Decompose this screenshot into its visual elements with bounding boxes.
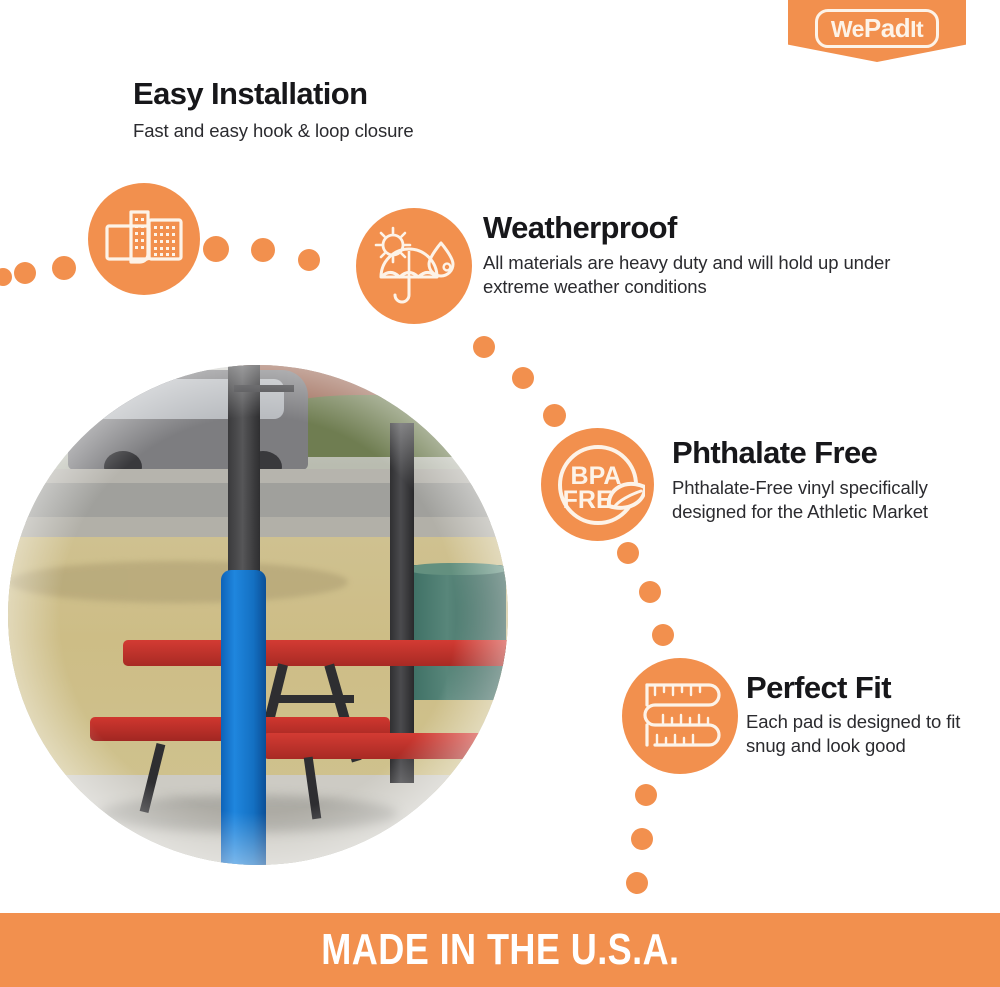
measuring-tape-icon xyxy=(622,658,738,774)
measuring-tape-glyph xyxy=(637,673,723,759)
feature-title: Weatherproof xyxy=(483,212,913,245)
hook-and-loop-glyph xyxy=(105,208,183,270)
trail-dot xyxy=(626,872,648,894)
feature-description: Each pad is designed to fit snug and loo… xyxy=(746,710,986,759)
feature-block-perfect-fit: Perfect Fit Each pad is designed to fit … xyxy=(746,672,986,758)
brand-logo-we: We xyxy=(831,18,864,41)
feature-block-weatherproof: Weatherproof All materials are heavy dut… xyxy=(483,212,913,299)
feature-title: Perfect Fit xyxy=(746,672,986,705)
feature-block-phthalate-free: Phthalate Free Phthalate-Free vinyl spec… xyxy=(672,437,972,524)
weather-glyph xyxy=(371,225,457,307)
trail-dot xyxy=(52,256,76,280)
hook-and-loop-icon xyxy=(88,183,200,295)
feature-title: Easy Installation xyxy=(133,78,553,111)
feature-title: Phthalate Free xyxy=(672,437,972,470)
made-in-usa-banner: MADE IN THE U.S.A. xyxy=(0,913,1000,987)
brand-logo-pad: Pad xyxy=(864,15,910,41)
brand-logo-box: We Pad It xyxy=(815,9,939,48)
feature-description: All materials are heavy duty and will ho… xyxy=(483,251,913,300)
bpa-free-glyph: BPA FREE xyxy=(551,438,645,532)
feature-description: Fast and easy hook & loop closure xyxy=(133,119,553,143)
trail-dot xyxy=(639,581,661,603)
trail-dot xyxy=(635,784,657,806)
feature-description: Phthalate-Free vinyl specifically design… xyxy=(672,476,972,525)
trail-dot xyxy=(251,238,275,262)
trail-dot xyxy=(203,236,229,262)
infographic-page: We Pad It xyxy=(0,0,1000,987)
trail-dot xyxy=(0,268,12,286)
brand-logo-banner: We Pad It xyxy=(788,0,966,62)
made-in-usa-text: MADE IN THE U.S.A. xyxy=(321,925,679,975)
feature-block-easy-installation: Easy Installation Fast and easy hook & l… xyxy=(133,78,553,143)
brand-logo-it: It xyxy=(910,18,923,41)
product-photo xyxy=(8,365,508,865)
bpa-free-leaf-icon: BPA FREE xyxy=(541,428,654,541)
trail-dot xyxy=(14,262,36,284)
trail-dot xyxy=(473,336,495,358)
trail-dot xyxy=(617,542,639,564)
trail-dot xyxy=(298,249,320,271)
sun-umbrella-raindrop-icon xyxy=(356,208,472,324)
photo-vignette xyxy=(8,365,508,865)
trail-dot xyxy=(512,367,534,389)
trail-dot xyxy=(543,404,566,427)
trail-dot xyxy=(652,624,674,646)
trail-dot xyxy=(631,828,653,850)
